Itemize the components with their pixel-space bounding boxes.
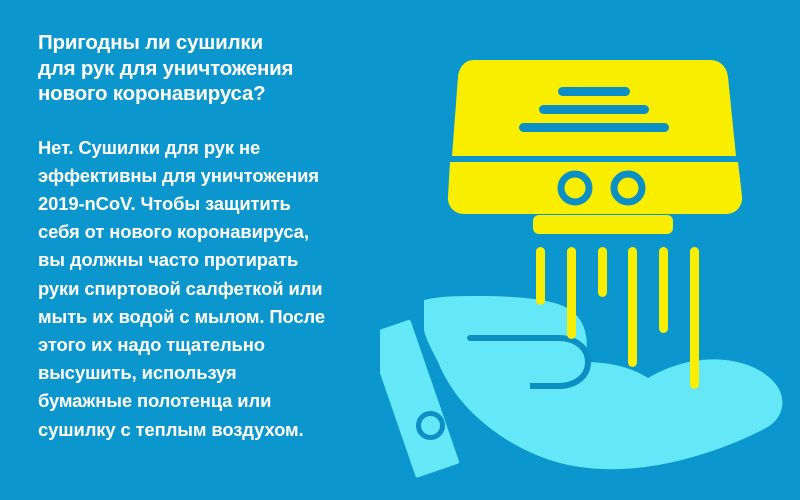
air-line-5 xyxy=(659,247,668,333)
vent-bar-1 xyxy=(558,87,630,96)
body-paragraph: Нет. Сушилки для рук не эффективны для у… xyxy=(38,107,368,444)
vent-bar-3 xyxy=(519,123,669,132)
dryer-lower-band xyxy=(448,162,742,214)
dryer-nozzle xyxy=(533,215,673,234)
air-line-3 xyxy=(598,247,607,297)
air-line-2 xyxy=(567,247,576,339)
air-line-6 xyxy=(690,247,699,389)
hand-dryer-unit xyxy=(448,60,742,234)
cuff-button-icon xyxy=(415,410,446,441)
text-column: Пригодны ли сушилки для рук для уничтоже… xyxy=(38,30,368,444)
infographic-card: Пригодны ли сушилки для рук для уничтоже… xyxy=(0,0,800,500)
air-line-4 xyxy=(628,247,637,367)
page-title: Пригодны ли сушилки для рук для уничтоже… xyxy=(38,30,368,107)
hand-graphic xyxy=(380,296,782,478)
air-line-1 xyxy=(536,247,545,305)
vent-bar-2 xyxy=(539,105,649,114)
illustration-hand-dryer xyxy=(380,0,800,500)
